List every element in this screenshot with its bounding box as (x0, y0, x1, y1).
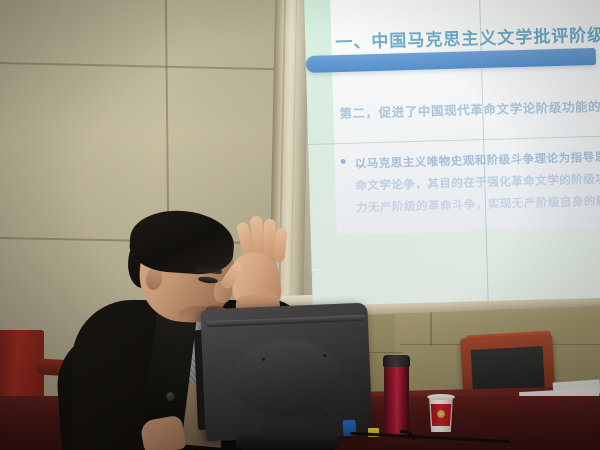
monitor-screw (324, 414, 327, 417)
monitor-screw (323, 354, 326, 357)
monitor-stand-base (236, 434, 340, 450)
jacket-button (166, 392, 175, 401)
thermos-lid (383, 355, 410, 367)
red-thermos (384, 359, 409, 437)
monitor-screw (262, 358, 265, 361)
paper-cup-emblem-icon (437, 410, 445, 418)
paper-cup-rim (427, 394, 455, 400)
photo-scene: 一、中国马克思主义文学批评阶级论的 第二，促进了中国现代革命文学论阶级功能的强化… (0, 0, 600, 450)
finger (273, 228, 287, 263)
